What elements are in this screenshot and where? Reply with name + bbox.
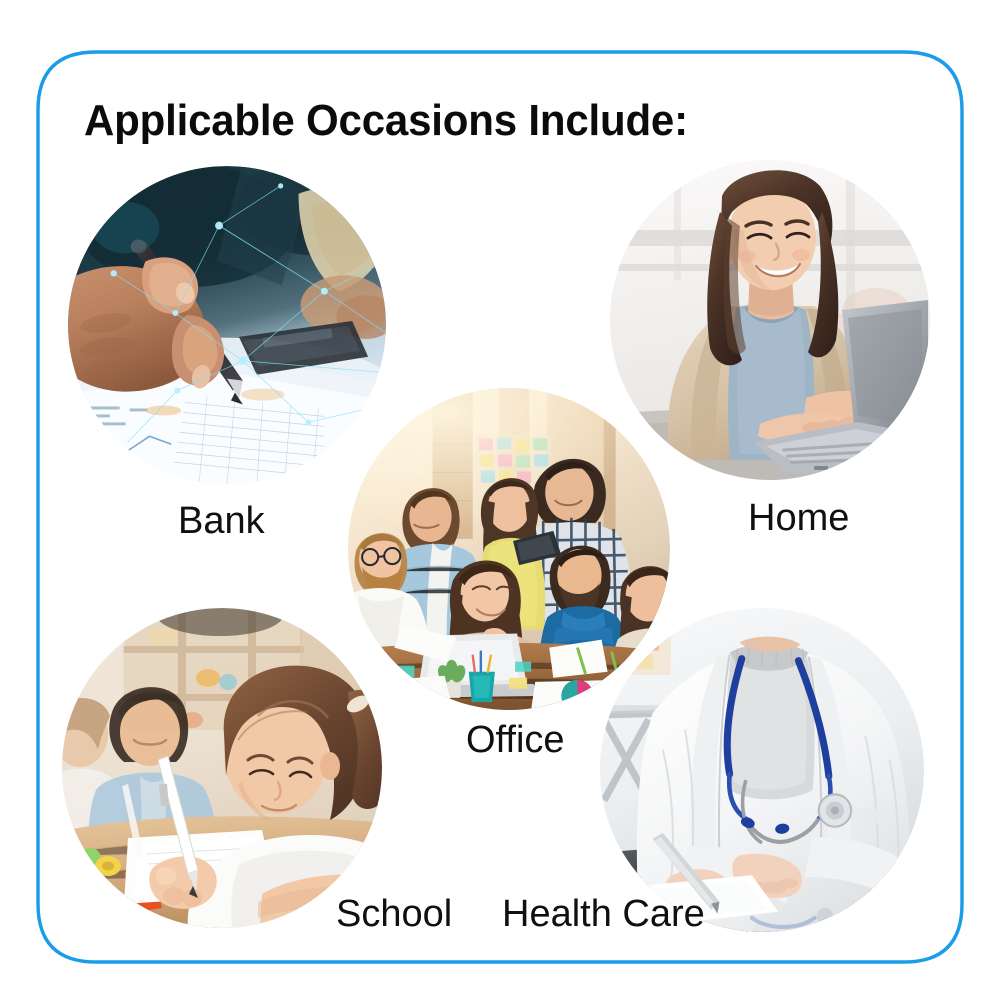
occasion-label-bank: Bank (178, 500, 265, 543)
occasion-label-office: Office (466, 719, 565, 762)
home-photo (610, 160, 930, 480)
poster-root: Applicable Occasions Include: (0, 0, 1000, 1000)
page-title: Applicable Occasions Include: (84, 96, 688, 146)
school-photo (62, 608, 382, 928)
office-photo (348, 388, 670, 710)
occasion-label-home: Home (748, 497, 849, 540)
bank-photo (68, 166, 386, 484)
occasion-label-health-care: Health Care (502, 893, 705, 936)
health-care-photo (600, 608, 924, 932)
occasion-label-school: School (336, 893, 452, 936)
